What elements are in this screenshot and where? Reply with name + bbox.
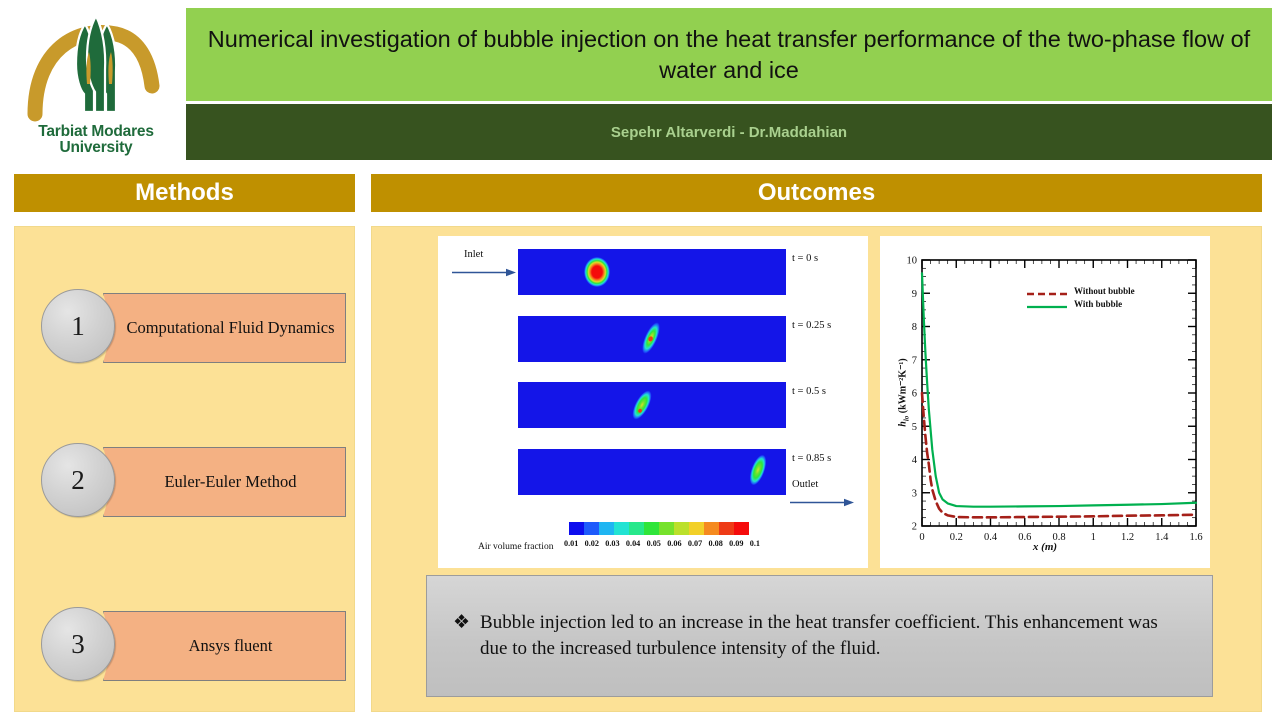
chart-legend: Without bubble With bubble bbox=[1026, 284, 1176, 310]
legend-item: With bubble bbox=[1026, 297, 1176, 310]
poster-header: Tarbiat Modares University Numerical inv… bbox=[0, 0, 1280, 168]
colorbar-segment-5 bbox=[644, 522, 659, 535]
y-tick-label: 5 bbox=[912, 422, 917, 433]
colorbar-tick-0: 0.01 bbox=[564, 539, 578, 548]
y-tick-label: 7 bbox=[912, 355, 917, 366]
y-tick-label: 9 bbox=[912, 289, 917, 300]
method-step-number: 1 bbox=[71, 311, 85, 342]
outcomes-section-header: Outcomes bbox=[371, 174, 1262, 212]
poster-authors: Sepehr Altarverdi - Dr.Maddahian bbox=[611, 124, 847, 141]
colorbar-segment-10 bbox=[719, 522, 734, 535]
legend-swatch-without-bubble bbox=[1026, 286, 1068, 296]
y-tick-label: 4 bbox=[912, 455, 918, 466]
heat-transfer-chart: 00.20.40.60.811.21.41.62345678910 hlo (k… bbox=[880, 236, 1210, 568]
legend-item: Without bubble bbox=[1026, 284, 1176, 297]
bubble-field-1 bbox=[518, 316, 786, 362]
poster-authors-bar: Sepehr Altarverdi - Dr.Maddahian bbox=[186, 104, 1272, 160]
logo-text-line2: University bbox=[38, 140, 154, 156]
colorbar-tick-5: 0.06 bbox=[667, 539, 681, 548]
method-step-number-badge: 2 bbox=[41, 443, 115, 517]
method-step-box: Ansys fluent bbox=[103, 611, 346, 681]
method-step: 2 Euler-Euler Method bbox=[41, 443, 346, 525]
method-step-number: 3 bbox=[71, 629, 85, 660]
colorbar-segment-7 bbox=[674, 522, 689, 535]
legend-label: With bubble bbox=[1074, 299, 1122, 309]
colorbar-segment-0 bbox=[569, 522, 584, 535]
colorbar-tick-3: 0.04 bbox=[626, 539, 640, 548]
colorbar-segment-9 bbox=[704, 522, 719, 535]
y-tick-label: 2 bbox=[912, 522, 917, 533]
method-step: 3 Ansys fluent bbox=[41, 607, 346, 689]
methods-title: Methods bbox=[135, 179, 234, 207]
y-tick-label: 3 bbox=[912, 488, 917, 499]
colorbar-segment-11 bbox=[734, 522, 749, 535]
method-step-box: Computational Fluid Dynamics bbox=[103, 293, 346, 363]
y-tick-label: 6 bbox=[912, 389, 917, 400]
inlet-arrow-icon bbox=[452, 268, 516, 277]
bubble-field-2 bbox=[518, 382, 786, 428]
outlet-label: Outlet bbox=[792, 479, 818, 490]
time-label: t = 0.85 s bbox=[792, 453, 831, 464]
simulation-frame bbox=[518, 449, 786, 495]
colorbar-tick-1: 0.02 bbox=[585, 539, 599, 548]
legend-swatch-with-bubble bbox=[1026, 299, 1068, 309]
method-step: 1 Computational Fluid Dynamics bbox=[41, 289, 346, 371]
colorbar-segment-8 bbox=[689, 522, 704, 535]
simulation-figure: Inlet bbox=[438, 236, 868, 568]
bubble-field-3 bbox=[518, 449, 786, 495]
conclusion-text: Bubble injection led to an increase in t… bbox=[480, 610, 1178, 662]
bubble-field-0 bbox=[518, 249, 786, 295]
simulation-frame bbox=[518, 382, 786, 428]
logo-text: Tarbiat Modares University bbox=[38, 124, 154, 157]
colorbar-segment-6 bbox=[659, 522, 674, 535]
outcomes-panel: Inlet bbox=[371, 226, 1262, 712]
university-logo: Tarbiat Modares University bbox=[8, 6, 184, 164]
time-label: t = 0.25 s bbox=[792, 320, 831, 331]
tarbiat-modares-logo-icon bbox=[21, 6, 171, 124]
poster-title: Numerical investigation of bubble inject… bbox=[204, 24, 1254, 84]
heat-transfer-chart-panel: 00.20.40.60.811.21.41.62345678910 hlo (k… bbox=[880, 236, 1210, 568]
method-step-number-badge: 3 bbox=[41, 607, 115, 681]
method-step-label: Computational Fluid Dynamics bbox=[126, 318, 334, 339]
colorbar-tick-4: 0.05 bbox=[647, 539, 661, 548]
inlet-label: Inlet bbox=[464, 249, 483, 260]
y-axis-unit: (kWm⁻²K⁻¹) bbox=[898, 358, 909, 415]
poster-title-bar: Numerical investigation of bubble inject… bbox=[186, 8, 1272, 101]
simulation-frame bbox=[518, 316, 786, 362]
chart-y-axis-label: hlo (kWm⁻²K⁻¹) bbox=[898, 333, 911, 453]
colorbar-tick-2: 0.03 bbox=[605, 539, 619, 548]
colorbar-label: Air volume fraction bbox=[478, 542, 553, 552]
colorbar-ticks: 0.010.020.030.040.050.060.070.080.090.1 bbox=[564, 539, 760, 548]
colorbar-tick-7: 0.08 bbox=[708, 539, 722, 548]
logo-text-line1: Tarbiat Modares bbox=[38, 124, 154, 140]
methods-panel: 1 Computational Fluid Dynamics 2 Euler-E… bbox=[14, 226, 355, 712]
conclusion-box: ❖ Bubble injection led to an increase in… bbox=[426, 575, 1213, 697]
method-step-number: 2 bbox=[71, 465, 85, 496]
diamond-bullet-icon: ❖ bbox=[453, 610, 470, 636]
colorbar-segment-2 bbox=[599, 522, 614, 535]
colorbar-segment-1 bbox=[584, 522, 599, 535]
method-step-number-badge: 1 bbox=[41, 289, 115, 363]
colorbar-tick-8: 0.09 bbox=[729, 539, 743, 548]
legend-label: Without bubble bbox=[1074, 286, 1135, 296]
simulation-frame bbox=[518, 249, 786, 295]
chart-series-0 bbox=[922, 393, 1196, 517]
methods-section-header: Methods bbox=[14, 174, 355, 212]
y-tick-label: 8 bbox=[912, 322, 917, 333]
method-step-label: Euler-Euler Method bbox=[164, 472, 296, 493]
time-label: t = 0.5 s bbox=[792, 386, 826, 397]
colorbar-segment-4 bbox=[629, 522, 644, 535]
outcomes-title: Outcomes bbox=[758, 179, 875, 207]
method-step-label: Ansys fluent bbox=[189, 636, 273, 657]
colorbar-tick-9: 0.1 bbox=[750, 539, 760, 548]
method-step-box: Euler-Euler Method bbox=[103, 447, 346, 517]
time-label: t = 0 s bbox=[792, 253, 818, 264]
logo-mark-icon bbox=[21, 6, 171, 124]
colorbar bbox=[569, 522, 749, 535]
y-axis-subscript: lo bbox=[903, 416, 911, 421]
chart-x-axis-label: x (m) bbox=[880, 541, 1210, 553]
colorbar-legend: Air volume fraction 0.010.020.030.040.05… bbox=[478, 522, 868, 562]
y-axis-symbol: h bbox=[898, 421, 909, 427]
y-tick-label: 10 bbox=[907, 256, 918, 267]
colorbar-tick-6: 0.07 bbox=[688, 539, 702, 548]
outlet-arrow-icon bbox=[790, 498, 854, 507]
x-axis-label-text: x (m) bbox=[1033, 541, 1057, 553]
colorbar-segment-3 bbox=[614, 522, 629, 535]
